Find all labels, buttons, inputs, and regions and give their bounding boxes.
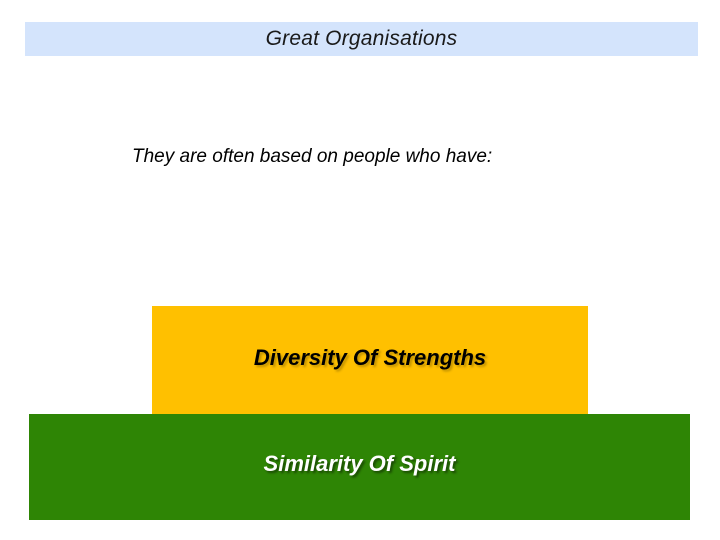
- slide-canvas: Great Organisations They are often based…: [0, 0, 720, 540]
- card-similarity-label: Similarity Of Spirit: [264, 451, 456, 477]
- slide-title: Great Organisations: [25, 22, 698, 56]
- card-diversity-label: Diversity Of Strengths: [254, 345, 486, 371]
- card-diversity-of-strengths: Diversity Of Strengths: [152, 306, 588, 414]
- card-similarity-of-spirit: Similarity Of Spirit: [29, 414, 690, 520]
- title-banner: Great Organisations: [25, 22, 698, 56]
- lead-in-text: They are often based on people who have:: [132, 146, 492, 168]
